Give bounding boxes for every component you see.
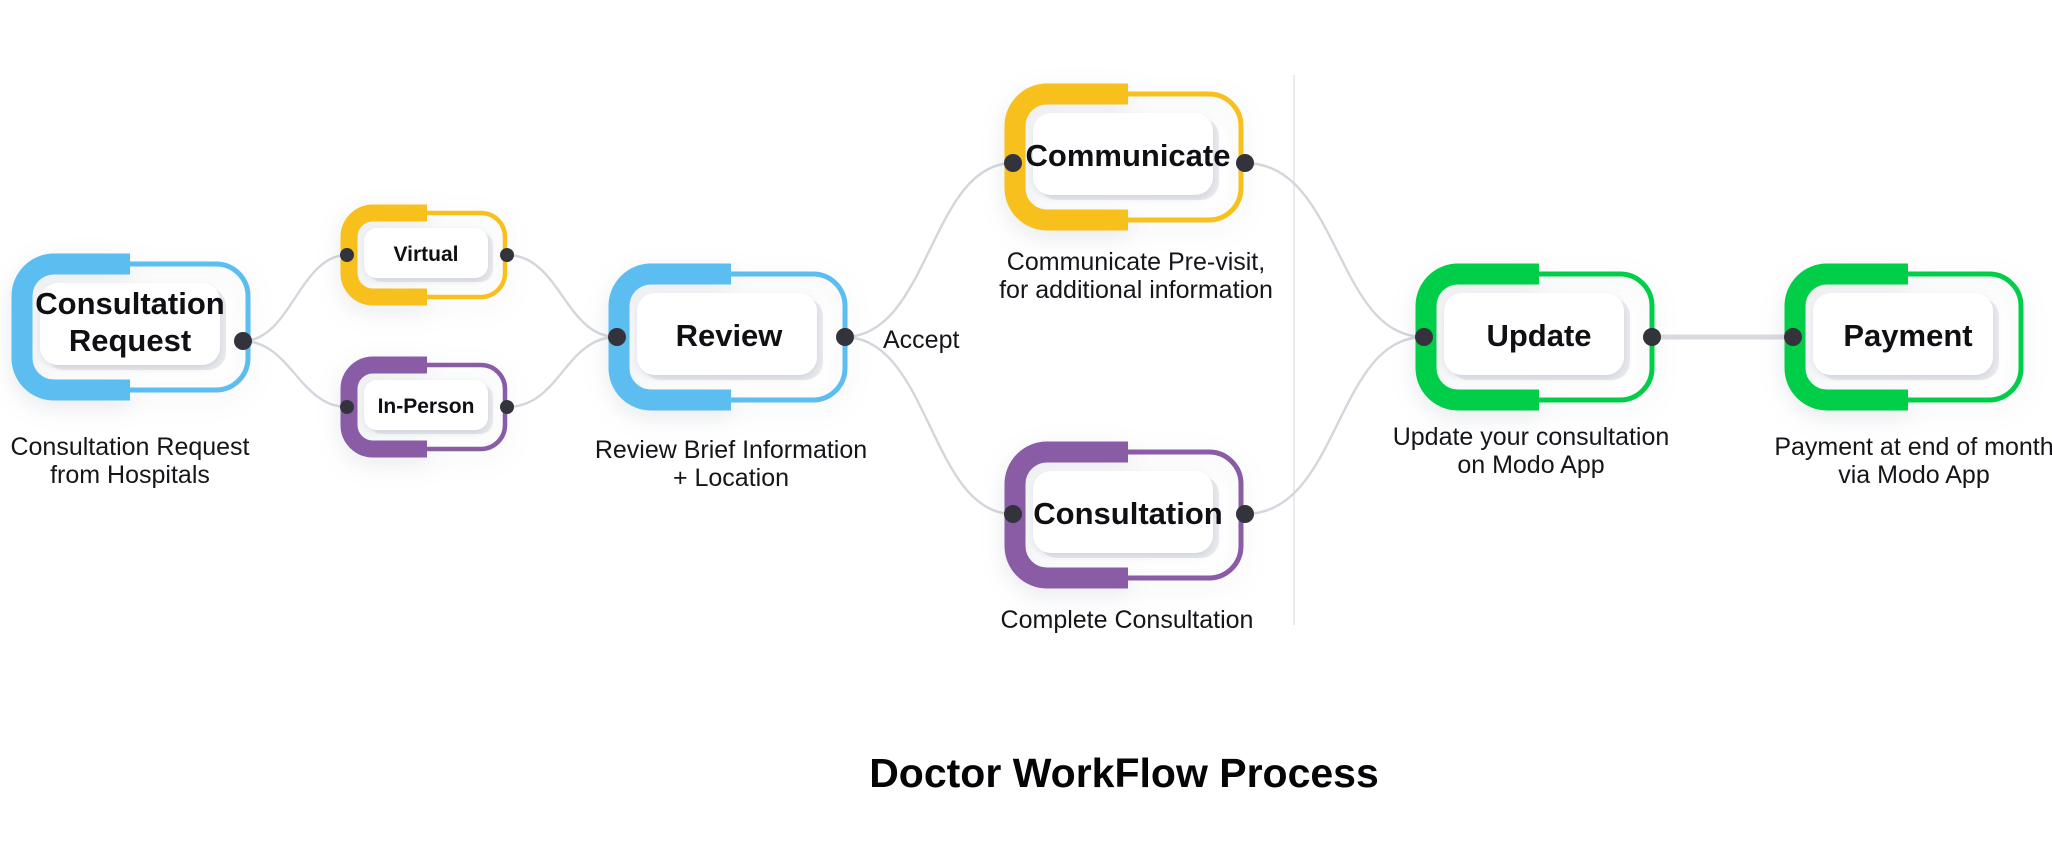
node-label: Consultation bbox=[1033, 496, 1222, 531]
port-dot-consultation-in[interactable] bbox=[1004, 505, 1022, 523]
caption-line-2: via Modo App bbox=[1838, 461, 1990, 489]
port-dot-virtual-out[interactable] bbox=[500, 248, 514, 262]
edge-review-to-consultation bbox=[844, 337, 1013, 514]
node-consultation[interactable]: Consultation bbox=[1015, 452, 1241, 578]
caption-line-2: for additional information bbox=[999, 276, 1273, 304]
node-communicate[interactable]: Communicate bbox=[1015, 94, 1241, 220]
port-dot-virtual-in[interactable] bbox=[340, 248, 354, 262]
port-dot-communicate-out[interactable] bbox=[1236, 154, 1254, 172]
port-dot-inperson-in[interactable] bbox=[340, 400, 354, 414]
node-consultation-request[interactable]: Consultation Request bbox=[22, 264, 248, 390]
node-label: Communicate bbox=[1026, 138, 1231, 173]
port-dot-inperson-out[interactable] bbox=[500, 400, 514, 414]
caption-line-1: Complete Consultation bbox=[1001, 606, 1254, 634]
edge-review-to-communicate bbox=[844, 163, 1013, 337]
node-label: Review bbox=[676, 318, 784, 353]
node-in-person[interactable]: In-Person bbox=[349, 365, 505, 449]
port-dot-review-out[interactable] bbox=[836, 328, 854, 346]
node-label: Virtual bbox=[394, 243, 459, 266]
node-label: Update bbox=[1486, 318, 1591, 353]
caption-payment: Payment at end of month via Modo App bbox=[1774, 433, 2052, 489]
caption-line-1: Consultation Request bbox=[10, 433, 249, 461]
node-update[interactable]: Update bbox=[1426, 274, 1652, 400]
edge-inperson-to-review bbox=[507, 337, 617, 407]
caption-consultation-request: Consultation Request from Hospitals bbox=[10, 433, 249, 489]
port-dot-review-in[interactable] bbox=[608, 328, 626, 346]
caption-communicate: Communicate Pre-visit, for additional in… bbox=[999, 248, 1273, 304]
caption-line-2: + Location bbox=[673, 464, 789, 492]
workflow-diagram-canvas: Consultation Request Virtual bbox=[0, 0, 2052, 860]
caption-update: Update your consultation on Modo App bbox=[1393, 423, 1670, 479]
port-dot-update-out[interactable] bbox=[1643, 328, 1661, 346]
caption-consultation: Complete Consultation bbox=[1001, 606, 1254, 634]
port-dot-communicate-in[interactable] bbox=[1004, 154, 1022, 172]
node-virtual[interactable]: Virtual bbox=[349, 213, 505, 297]
caption-line-1: Payment at end of month bbox=[1774, 433, 2052, 461]
node-label: In-Person bbox=[378, 395, 475, 418]
port-dot-consultation-out[interactable] bbox=[1236, 505, 1254, 523]
node-label-line-2: Request bbox=[69, 323, 191, 358]
node-review[interactable]: Review bbox=[619, 274, 845, 400]
edge-request-to-inperson bbox=[243, 341, 347, 407]
edge-label-accept: Accept bbox=[883, 326, 959, 354]
edge-request-to-virtual bbox=[243, 255, 347, 341]
caption-review: Review Brief Information + Location bbox=[595, 436, 867, 492]
port-dot-update-in[interactable] bbox=[1415, 328, 1433, 346]
caption-line-1: Update your consultation bbox=[1393, 423, 1670, 451]
node-label: Payment bbox=[1843, 318, 1972, 353]
node-payment[interactable]: Payment bbox=[1795, 274, 2021, 400]
edge-communicate-to-update bbox=[1245, 163, 1424, 337]
port-dot-request-out[interactable] bbox=[234, 332, 252, 350]
edge-virtual-to-review bbox=[507, 255, 617, 337]
caption-line-1: Review Brief Information bbox=[595, 436, 867, 464]
node-label-line-1: Consultation bbox=[35, 286, 224, 321]
caption-line-1: Communicate Pre-visit, bbox=[1007, 248, 1265, 276]
caption-line-2: from Hospitals bbox=[50, 461, 210, 489]
diagram-title: Doctor WorkFlow Process bbox=[869, 750, 1379, 796]
diagram-svg: Consultation Request Virtual bbox=[0, 0, 2052, 860]
caption-line-2: on Modo App bbox=[1457, 451, 1604, 479]
port-dot-payment-in[interactable] bbox=[1784, 328, 1802, 346]
